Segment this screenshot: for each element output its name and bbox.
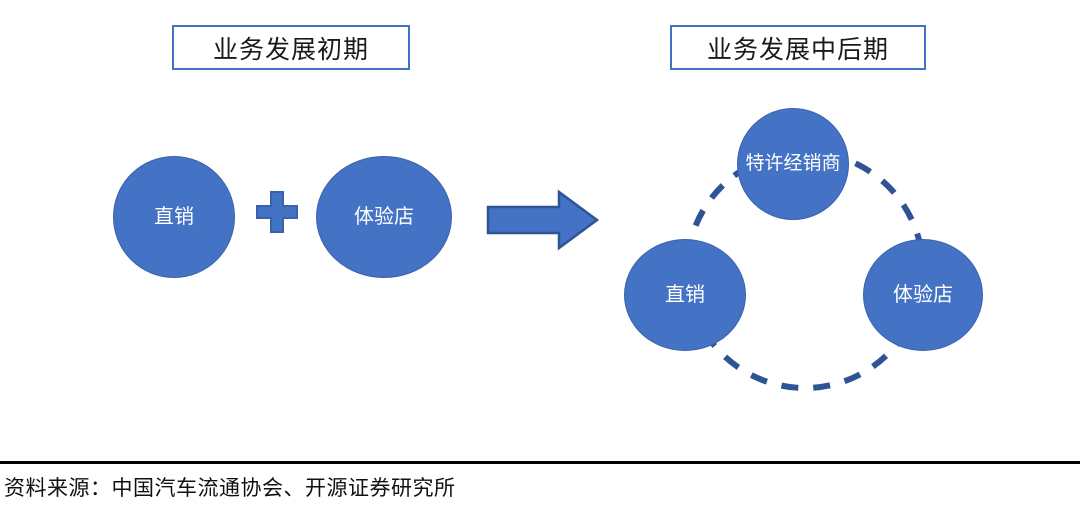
node-direct-sales-late: 直销 xyxy=(624,239,746,351)
node-experience-store-early: 体验店 xyxy=(316,156,452,278)
right-panel-title-text: 业务发展中后期 xyxy=(707,30,889,66)
node-direct-sales-early-label: 直销 xyxy=(148,205,200,229)
node-experience-store-late-label: 体验店 xyxy=(887,283,959,307)
right-arrow-icon xyxy=(485,189,600,251)
left-panel-title-box: 业务发展初期 xyxy=(172,25,410,70)
node-experience-store-early-label: 体验店 xyxy=(348,205,420,229)
left-panel-title-text: 业务发展初期 xyxy=(213,30,369,66)
figure-canvas: 业务发展初期 业务发展中后期 直销 体验店 特许经销商 直销 体验店 xyxy=(0,0,1080,507)
node-direct-sales-early: 直销 xyxy=(113,156,235,278)
footer-divider xyxy=(0,461,1080,464)
node-experience-store-late: 体验店 xyxy=(863,239,983,351)
node-franchise-dealer-late: 特许经销商 xyxy=(737,108,849,220)
node-franchise-dealer-late-label: 特许经销商 xyxy=(739,152,846,175)
right-panel-title-box: 业务发展中后期 xyxy=(670,25,926,70)
node-direct-sales-late-label: 直销 xyxy=(659,283,711,307)
plus-icon xyxy=(254,189,300,235)
source-note: 资料来源：中国汽车流通协会、开源证券研究所 xyxy=(4,472,1064,502)
